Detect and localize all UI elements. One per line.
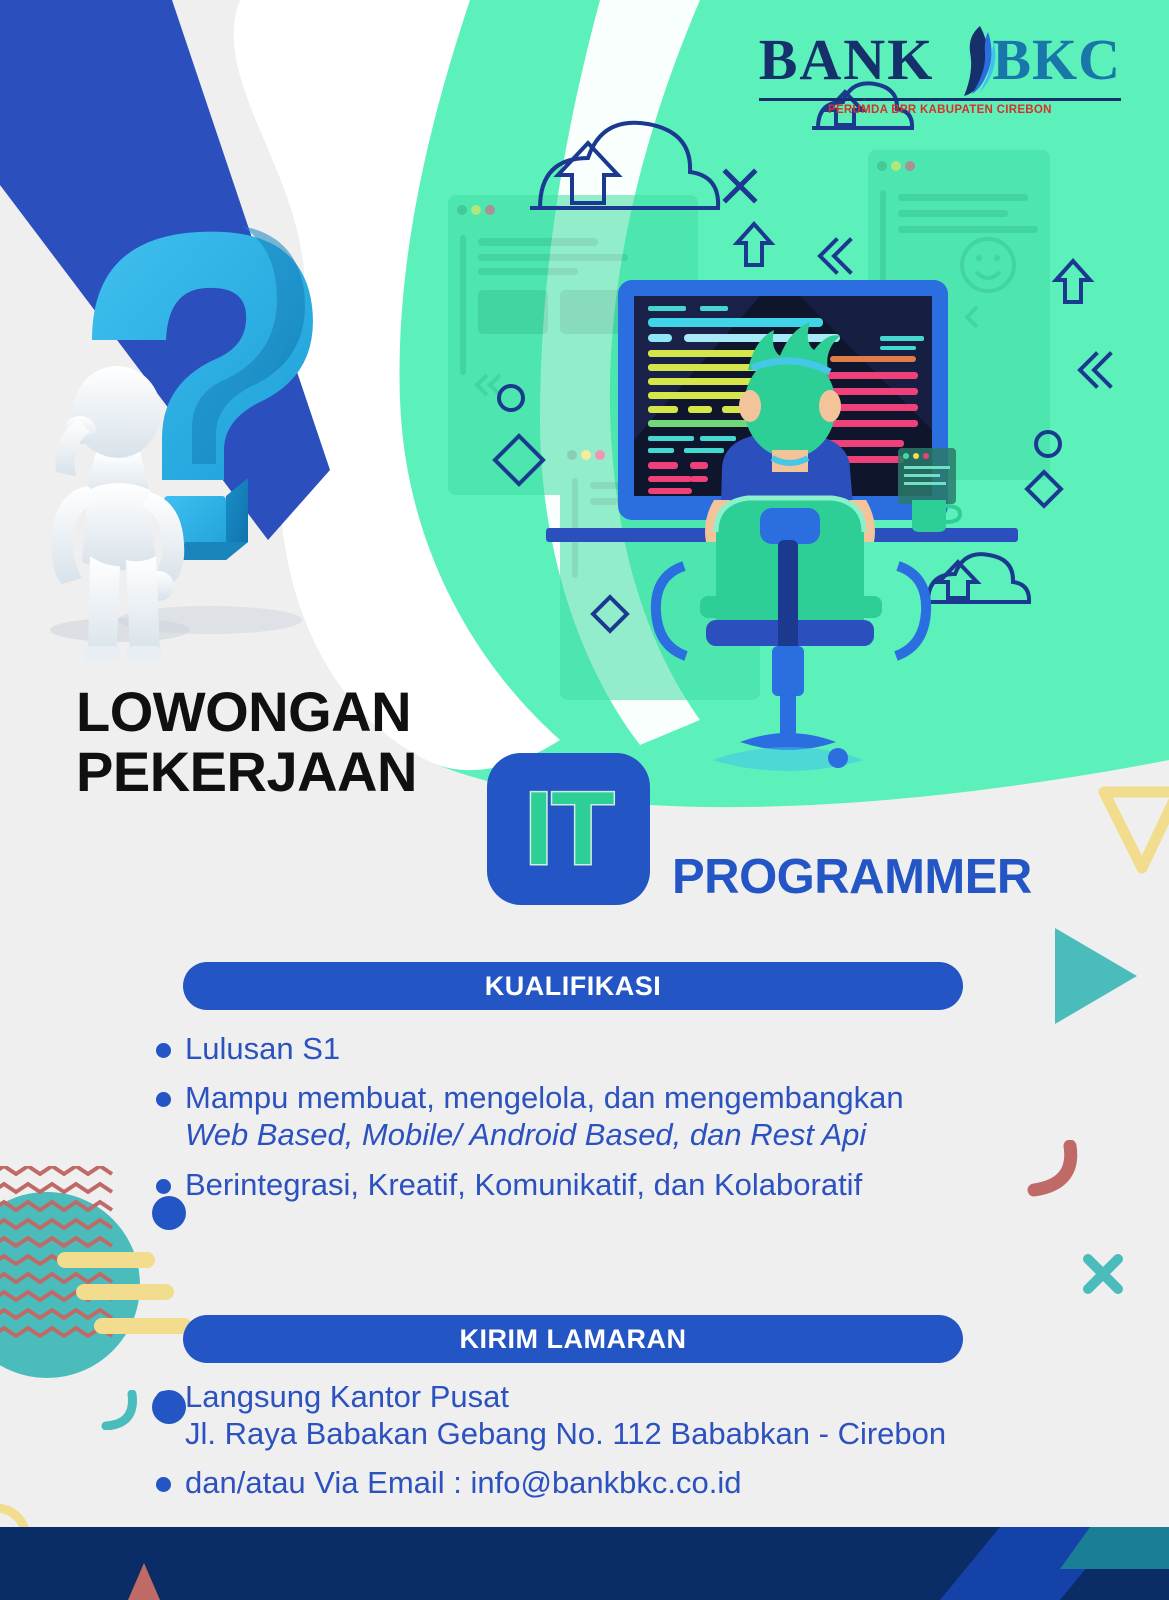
headline-line-2: PEKERJAAN (76, 742, 417, 802)
footer-band (0, 1527, 1169, 1600)
list-item: dan/atau Via Email : info@bankbkc.co.id (156, 1464, 1056, 1501)
teal-x-decoration (1082, 1253, 1124, 1295)
list-item-line: Langsung Kantor Pusat (185, 1378, 946, 1415)
bullet-icon (156, 1092, 171, 1107)
logo-subtitle: PERUMDA BPR KABUPATEN CIREBON (759, 104, 1121, 116)
list-item: Langsung Kantor Pusat Jl. Raya Babakan G… (156, 1378, 1056, 1452)
list-item: Berintegrasi, Kreatif, Komunikatif, dan … (156, 1166, 1056, 1203)
bullet-icon (156, 1391, 171, 1406)
poster: BANK BKC PERUMDA BPR KABUPATEN CIREBON L… (0, 0, 1169, 1600)
bank-bkc-logo: BANK BKC PERUMDA BPR KABUPATEN CIREBON (759, 24, 1121, 116)
list-item-line: dan/atau Via Email : info@bankbkc.co.id (185, 1464, 742, 1501)
qualification-list: Lulusan S1 Mampu membuat, mengelola, dan… (156, 1030, 1056, 1215)
yellow-triangle-outline-decoration (1098, 786, 1169, 878)
logo-bkc-text: BKC (992, 31, 1121, 89)
section-heading-kualifikasi: KUALIFIKASI (183, 962, 963, 1010)
list-item-line: Mampu membuat, mengelola, dan mengembang… (185, 1079, 904, 1116)
list-item-line: Berintegrasi, Kreatif, Komunikatif, dan … (185, 1166, 862, 1203)
page-title: LOWONGAN PEKERJAAN (76, 682, 417, 803)
application-submission-list: Langsung Kantor Pusat Jl. Raya Babakan G… (156, 1378, 1056, 1514)
section-heading-kirim-lamaran: KIRIM LAMARAN (183, 1315, 963, 1363)
headline-line-1: LOWONGAN (76, 682, 417, 742)
section-heading-label: KUALIFIKASI (485, 971, 662, 1002)
bullet-icon (156, 1477, 171, 1492)
yellow-bar-decoration (76, 1284, 174, 1300)
teal-arc-decoration (100, 1390, 140, 1430)
bullet-icon (156, 1179, 171, 1194)
list-item-line-italic: Web Based, Mobile/ Android Based, dan Re… (185, 1117, 866, 1152)
list-item-line: Jl. Raya Babakan Gebang No. 112 Bababkan… (185, 1415, 946, 1452)
yellow-bar-decoration (94, 1318, 192, 1334)
position-title: PROGRAMMER (672, 849, 1032, 905)
list-item-line: Lulusan S1 (185, 1030, 340, 1067)
it-badge: IT (487, 753, 650, 905)
teal-triangle-decoration (1055, 928, 1137, 1024)
list-item: Lulusan S1 (156, 1030, 1056, 1067)
logo-divider (759, 98, 1121, 101)
bullet-icon (156, 1043, 171, 1058)
it-badge-label: IT (524, 777, 612, 881)
list-item: Mampu membuat, mengelola, dan mengembang… (156, 1079, 1056, 1153)
logo-bank-text: BANK (759, 31, 935, 89)
feather-icon (934, 24, 996, 96)
yellow-bar-decoration (57, 1252, 155, 1268)
section-heading-label: KIRIM LAMARAN (460, 1324, 687, 1355)
